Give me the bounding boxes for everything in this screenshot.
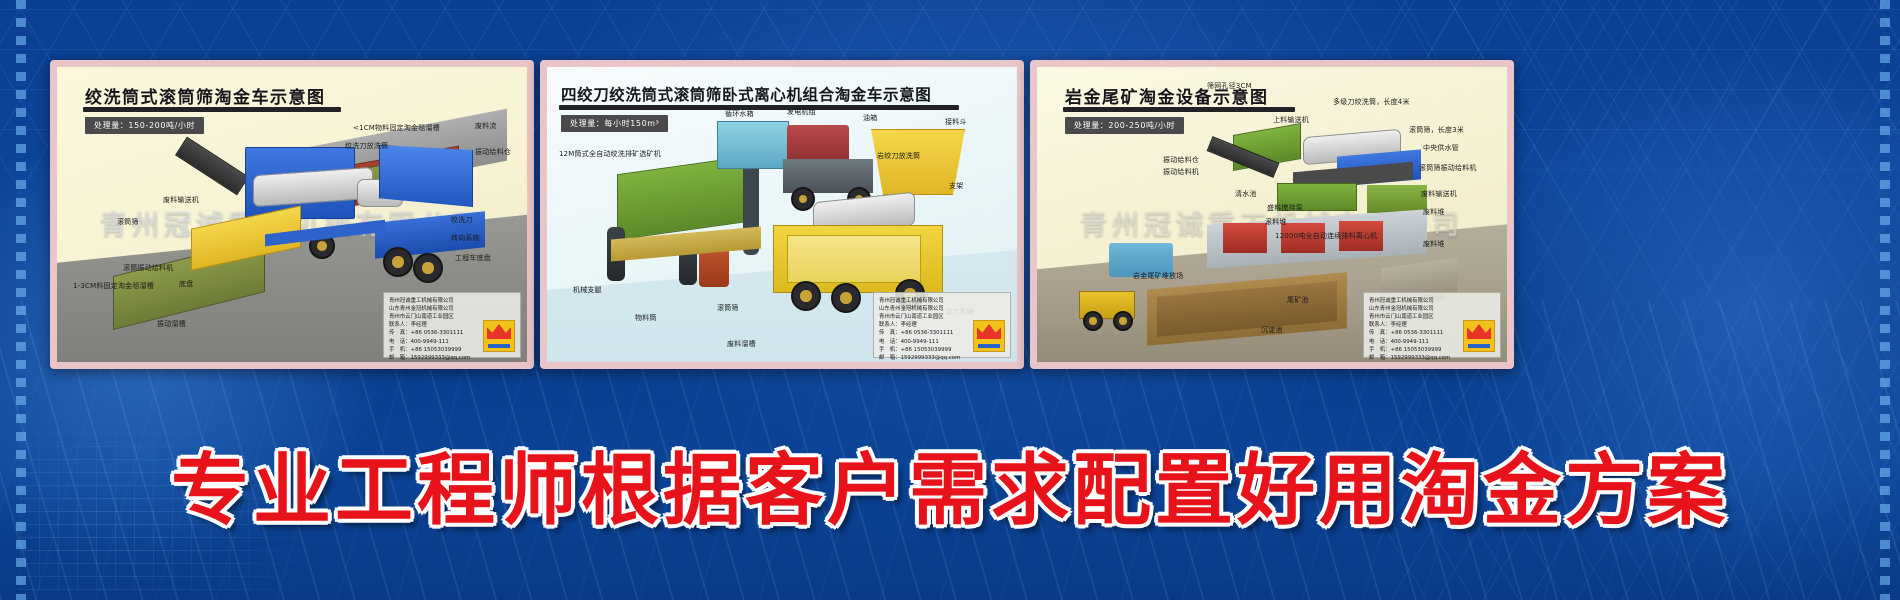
contact-block-1: 青州冠诚重工机械有限公司 山东青州金冠机械有限公司 青州市云门山南道工业园区 联… [383, 292, 521, 358]
diagram-panel-1[interactable]: 青州冠诚重工机械有限公司 绞洗筒式滚筒筛淘金车示意图 处理量：150-200吨/… [50, 60, 534, 369]
wheel [413, 253, 443, 283]
crown-icon [1463, 320, 1495, 352]
callout-label: 转向系统 [451, 233, 480, 243]
waste-conveyor [175, 137, 249, 196]
contact-company: 青州冠诚重工机械有限公司 [389, 297, 515, 305]
callout-label: 岩绞刀放洗筒 [877, 151, 920, 161]
callout-label: 滚筒筛振动给料机 [1419, 163, 1477, 173]
callout-label: 滚筒筛 [117, 217, 139, 227]
contact-block-2: 青州冠诚重工机械有限公司 山东青州金冠机械有限公司 青州市云门山南道工业园区 联… [873, 292, 1011, 358]
callout-label: 废料输送机 [1421, 189, 1457, 199]
callout-label: 振动给料仓 [1163, 155, 1199, 165]
callout-label: 循环水箱 [725, 109, 754, 119]
callout-label: 滚料堆 [1265, 217, 1287, 227]
panel-3-capacity-badge: 处理量：200-250吨/小时 [1065, 117, 1184, 134]
callout-label: 绞洗刀放洗筒 [345, 141, 388, 151]
wheel [831, 283, 861, 313]
callout-label: 沉淀池 [1261, 325, 1283, 335]
callout-label: 振动给料机 [1163, 167, 1199, 177]
water-manifold [1367, 185, 1427, 213]
wheel [383, 247, 413, 277]
callout-label: 底盘 [179, 279, 193, 289]
panel-1-title: 绞洗筒式滚筒筛淘金车示意图 [85, 83, 326, 108]
contact-email: 邮 箱：1592999333@qq.com [389, 354, 515, 362]
contact-company-alt: 山东青州金冠机械有限公司 [1369, 305, 1495, 313]
callout-label: 支架 [949, 181, 963, 191]
callout-label: 油箱 [863, 113, 877, 123]
contact-company-alt: 山东青州金冠机械有限公司 [879, 305, 1005, 313]
truck-deck [787, 235, 921, 283]
callout-label: 1-3CM料固定淘金毯溜槽 [73, 281, 154, 291]
water-tank [717, 121, 789, 169]
panel-1-title-underline [83, 107, 341, 112]
wheel [791, 187, 815, 211]
promo-banner: 青州冠诚重工机械有限公司 绞洗筒式滚筒筛淘金车示意图 处理量：150-200吨/… [0, 0, 1900, 600]
callout-label: <1CM物料固定淘金毯溜槽 [353, 123, 440, 133]
panel-2-capacity-badge: 处理量：每小时150m³ [561, 115, 668, 132]
callout-label: 滚筒筛 [717, 303, 739, 313]
callout-label: 物料筒 [635, 313, 657, 323]
callout-label: 发电机组 [787, 107, 816, 117]
callout-label: 废料流 [475, 121, 497, 131]
contact-email: 邮 箱：1592999333@qq.com [879, 354, 1005, 362]
contact-email: 邮 箱：1592999333@qq.com [1369, 354, 1495, 362]
callout-label: 滚筒筛，长度3米 [1409, 125, 1464, 135]
wheel [1083, 311, 1103, 331]
panel-2-title-underline [559, 105, 959, 110]
callout-label: 多级刀绞洗筒，长度4米 [1333, 97, 1410, 107]
wheel [791, 281, 821, 311]
generator-set [787, 125, 849, 163]
contact-company: 青州冠诚重工机械有限公司 [1369, 297, 1495, 305]
callout-label: 清水池 [1235, 189, 1257, 199]
callout-label: 机械支腿 [573, 285, 602, 295]
callout-label: 尾矿池 [1287, 295, 1309, 305]
callout-label: 12M筒式全自动绞洗排矿选矿机 [559, 149, 661, 159]
callout-label: 滚筒振动给料机 [123, 263, 173, 273]
panel-2-title: 四绞刀绞洗筒式滚筒筛卧式离心机组合淘金车示意图 [561, 83, 931, 105]
wheel [1113, 311, 1133, 331]
callout-label: 上料输送机 [1273, 115, 1309, 125]
crown-icon [973, 320, 1005, 352]
callout-label: 筛网孔径3CM [1207, 81, 1252, 91]
banner-headline: 专业工程师根据客户需求配置好用淘金方案 [0, 452, 1900, 530]
crown-icon [483, 320, 515, 352]
callout-label: 废料溜槽 [727, 339, 756, 349]
contact-company-alt: 山东青州金冠机械有限公司 [389, 305, 515, 313]
callout-label: 中央供水管 [1423, 143, 1459, 153]
callout-label: 接料斗 [945, 117, 967, 127]
panel-1-capacity-badge: 处理量：150-200吨/小时 [85, 117, 204, 134]
callout-label: 绞洗刀 [451, 215, 473, 225]
callout-label: 废料输送机 [163, 195, 199, 205]
callout-label: 12000吨全自动连续排料离心机 [1275, 231, 1377, 241]
feed-hopper [379, 145, 473, 207]
centrifuge-unit [1223, 223, 1267, 253]
callout-label: 废料堆 [1423, 207, 1445, 217]
callout-label: 废料堆 [1423, 239, 1445, 249]
panel-3-title-underline [1063, 107, 1295, 112]
callout-label: 振动给料仓 [475, 147, 511, 157]
diagram-panel-2[interactable]: 四绞刀绞洗筒式滚筒筛卧式离心机组合淘金车示意图 处理量：每小时150m³ 循环水… [540, 60, 1024, 369]
contact-company: 青州冠诚重工机械有限公司 [879, 297, 1005, 305]
contact-block-3: 青州冠诚重工机械有限公司 山东青州金冠机械有限公司 青州市云门山南道工业园区 联… [1363, 292, 1501, 358]
callout-label: 工程车底盘 [455, 253, 491, 263]
callout-label: 盛料搅拌泵 [1267, 203, 1303, 213]
callout-label: 岩金尾矿堆放场 [1133, 271, 1183, 281]
diagram-panel-3[interactable]: 青州冠诚重工机械有限公司 岩金尾矿淘金设备示意图 处理量：200-250吨/小时… [1030, 60, 1514, 369]
callout-label: 振动溜槽 [157, 319, 186, 329]
